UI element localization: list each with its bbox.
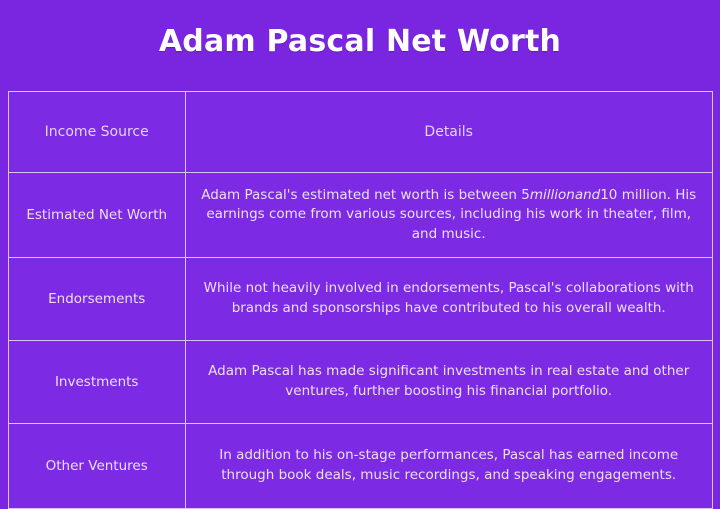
page-title: Adam Pascal Net Worth	[0, 27, 720, 57]
row-label-endorsements: Endorsements	[8, 258, 185, 341]
row-details-investments: Adam Pascal has made significant investm…	[185, 341, 712, 424]
income-breakdown-table: Income Source Details Estimated Net Wort…	[8, 91, 713, 509]
details-text-prefix: Adam Pascal's estimated net worth is bet…	[201, 187, 530, 203]
table-row: Estimated Net Worth Adam Pascal's estima…	[8, 173, 712, 258]
table-body: Estimated Net Worth Adam Pascal's estima…	[8, 173, 712, 509]
row-details-other-ventures: In addition to his on-stage performances…	[185, 424, 712, 509]
row-label-other-ventures: Other Ventures	[8, 424, 185, 509]
table-wrapper: Income Source Details Estimated Net Wort…	[8, 91, 713, 509]
row-details-endorsements: While not heavily involved in endorsemen…	[185, 258, 712, 341]
table-header-row: Income Source Details	[8, 92, 712, 173]
table-row: Endorsements While not heavily involved …	[8, 258, 712, 341]
row-label-investments: Investments	[8, 341, 185, 424]
column-header-details: Details	[185, 92, 712, 173]
column-header-income-source: Income Source	[8, 92, 185, 173]
row-details-estimated-net-worth: Adam Pascal's estimated net worth is bet…	[185, 173, 712, 258]
table-head: Income Source Details	[8, 92, 712, 173]
page-container: Adam Pascal Net Worth Income Source Deta…	[0, 0, 720, 428]
table-row: Other Ventures In addition to his on-sta…	[8, 424, 712, 509]
table-row: Investments Adam Pascal has made signifi…	[8, 341, 712, 424]
row-label-estimated-net-worth: Estimated Net Worth	[8, 173, 185, 258]
details-text-italic-fragment: millionand	[530, 187, 600, 203]
